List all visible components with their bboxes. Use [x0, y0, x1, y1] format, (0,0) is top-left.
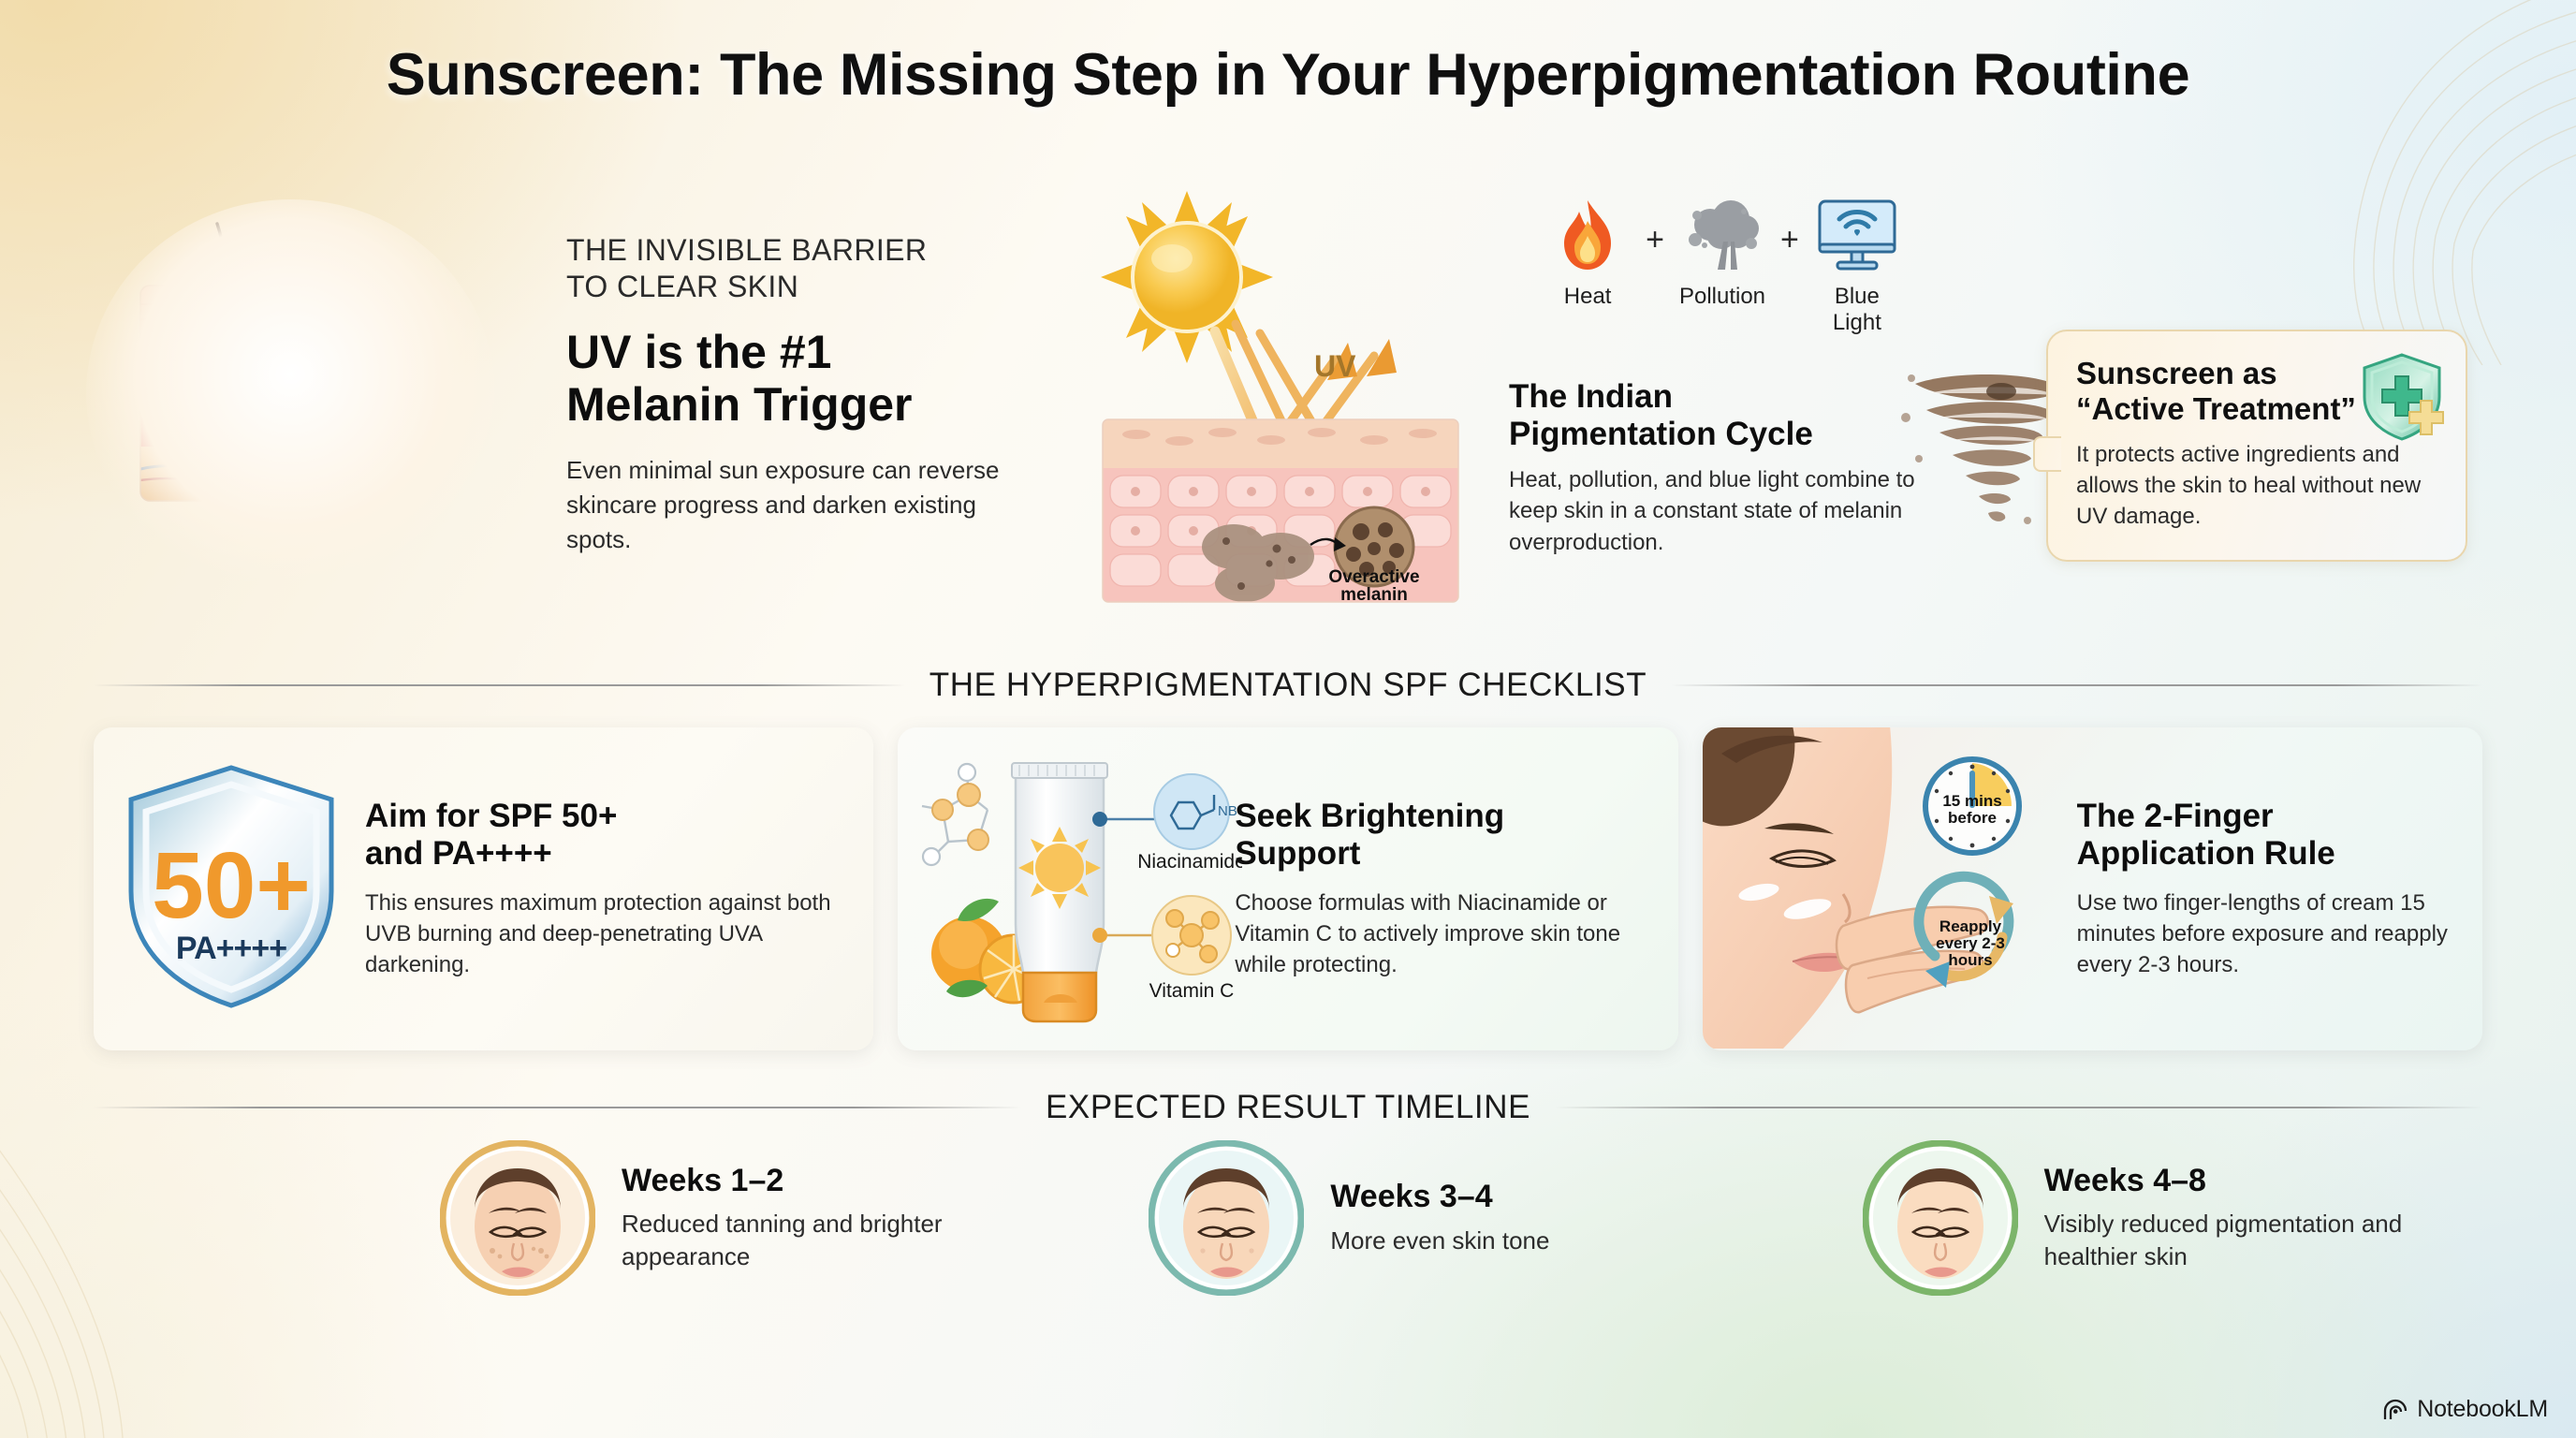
page-title: Sunscreen: The Missing Step in Your Hype…: [0, 41, 2576, 109]
timeline-weeks-3-4-result: More even skin tone: [1330, 1225, 1549, 1256]
face-week-1-2: [440, 1140, 595, 1296]
timeline-divider-line-left: [94, 1107, 1021, 1108]
card-title-spf-line2: and PA++++: [365, 835, 552, 872]
checklist-section-label: THE HYPERPIGMENTATION SPF CHECKLIST: [929, 667, 1647, 704]
spf-shield-badge: 50+ PA++++: [94, 760, 365, 1018]
timeline-item-weeks-1-2[interactable]: Weeks 1–2 Reduced tanning and brighter a…: [94, 1140, 1060, 1296]
divider-line-left: [94, 684, 905, 686]
shield-medical-icon: [2359, 352, 2445, 442]
trigger-item-bluelight: Blue Light: [1810, 192, 1904, 336]
hero-headline-line1: UV is the #1: [566, 326, 1011, 378]
trigger-separator-2: +: [1780, 192, 1799, 258]
melanin-label-line2: melanin: [1340, 585, 1408, 605]
trigger-item-heat: Heat: [1541, 192, 1634, 310]
timeline-divider-line-right: [1555, 1107, 2482, 1108]
timeline-weeks-1-2-label: Weeks 1–2: [622, 1164, 1060, 1198]
melanin-label-line1: Overactive: [1328, 567, 1419, 587]
timeline-row: Weeks 1–2 Reduced tanning and brighter a…: [94, 1140, 2482, 1296]
uv-penetration-diagram: UV: [1093, 174, 1486, 609]
pigmentation-cycle-block: The Indian Pigmentation Cycle Heat, poll…: [1509, 378, 1921, 559]
card-title-application-line2: Application Rule: [2077, 835, 2335, 872]
timeline-weeks-4-8-label: Weeks 4–8: [2044, 1164, 2482, 1198]
hero-body: Even minimal sun exposure can reverse sk…: [566, 453, 1011, 557]
reapply-label-line3: hours: [1948, 951, 1992, 969]
card-title-brightening-line1: Seek Brightening: [1235, 798, 1504, 834]
hero-kicker-line1: THE INVISIBLE BARRIER: [566, 232, 1011, 269]
checklist-card-application[interactable]: 15 mins before Reapply every 2-3 hours: [1703, 727, 2482, 1050]
cycle-heading-line1: The Indian: [1509, 378, 1673, 415]
card-title-spf: Aim for SPF 50+ and PA++++: [365, 798, 842, 873]
card-text-application: The 2-Finger Application Rule Use two fi…: [2077, 798, 2482, 981]
monitor-bluelight-icon: [1810, 192, 1904, 278]
active-treatment-callout: Sunscreen as “Active Treatment” It prote…: [2046, 330, 2467, 562]
card-title-spf-line1: Aim for SPF 50+: [365, 798, 617, 834]
timeline-item-weeks-4-8[interactable]: Weeks 4–8 Visibly reduced pigmentation a…: [1769, 1140, 2482, 1296]
checklist-card-brightening[interactable]: NB Niacinamide Vitamin C: [898, 727, 1677, 1050]
hero-kicker: THE INVISIBLE BARRIER TO CLEAR SKIN: [566, 232, 1011, 305]
callout-body: It protects active ingredients and allow…: [2076, 439, 2437, 532]
card-title-application-line1: The 2-Finger: [2077, 798, 2274, 834]
face-week-4-8: [1863, 1140, 2018, 1296]
section-divider-timeline: EXPECTED RESULT TIMELINE: [94, 1089, 2482, 1126]
reapply-label-line2: every 2-3: [1936, 934, 2005, 952]
trigger-label-bluelight: Blue Light: [1810, 284, 1904, 336]
spf-badge-sub: PA++++: [176, 931, 286, 966]
notebooklm-logo-icon: [2383, 1399, 2408, 1421]
callout-heading: Sunscreen as “Active Treatment”: [2076, 356, 2357, 428]
infographic-background: Sunscreen: The Missing Step in Your Hype…: [0, 0, 2576, 1438]
checklist-card-spf[interactable]: 50+ PA++++ Aim for SPF 50+ and PA++++ Th…: [94, 727, 873, 1050]
hero-headline-line2: Melanin Trigger: [566, 378, 1011, 431]
timeline-text-weeks-3-4: Weeks 3–4 More even skin tone: [1330, 1180, 1549, 1256]
timeline-weeks-1-2-result: Reduced tanning and brighter appearance: [622, 1208, 1060, 1272]
timeline-weeks-3-4-label: Weeks 3–4: [1330, 1180, 1549, 1214]
uv-label: UV: [1314, 349, 1356, 383]
reapply-label-line1: Reapply: [1939, 917, 2002, 935]
card-body-brightening: Choose formulas with Niacinamide or Vita…: [1235, 888, 1646, 980]
card-text-brightening: Seek Brightening Support Choose formulas…: [1235, 798, 1677, 981]
trigger-separator-1: +: [1646, 192, 1664, 258]
section-divider-checklist: THE HYPERPIGMENTATION SPF CHECKLIST: [94, 667, 2482, 704]
cycle-heading-line2: Pigmentation Cycle: [1509, 416, 1813, 452]
callout-heading-line1: Sunscreen as: [2076, 356, 2277, 390]
timeline-item-weeks-3-4[interactable]: Weeks 3–4 More even skin tone: [1060, 1140, 1768, 1296]
trigger-label-heat: Heat: [1541, 284, 1634, 310]
fire-icon: [1541, 192, 1634, 278]
divider-line-right: [1671, 684, 2482, 686]
card-title-brightening: Seek Brightening Support: [1235, 798, 1646, 873]
sun-icon: [1101, 191, 1273, 363]
ingredient-label-niacinamide: Niacinamide: [1138, 851, 1243, 873]
checklist-card-row: 50+ PA++++ Aim for SPF 50+ and PA++++ Th…: [94, 727, 2482, 1050]
smog-cloud-icon: [1676, 192, 1769, 278]
hero-kicker-line2: TO CLEAR SKIN: [566, 269, 1011, 305]
illustration-glow: [86, 199, 495, 588]
card-body-spf: This ensures maximum protection against …: [365, 888, 842, 980]
timer-badge-15min: 15 mins before: [1925, 759, 2019, 853]
card-text-spf: Aim for SPF 50+ and PA++++ This ensures …: [365, 798, 873, 981]
hero-headline: UV is the #1 Melanin Trigger: [566, 326, 1011, 431]
svg-text:NB: NB: [1218, 803, 1237, 819]
trigger-label-pollution: Pollution: [1676, 284, 1769, 310]
card-title-brightening-line2: Support: [1235, 835, 1360, 872]
card-title-application: The 2-Finger Application Rule: [2077, 798, 2451, 873]
pigmentation-trigger-row: Heat +: [1521, 192, 1924, 336]
timeline-weeks-4-8-result: Visibly reduced pigmentation and healthi…: [2044, 1208, 2482, 1272]
timer-label-line1: 15 mins: [1942, 792, 2001, 810]
timeline-section-label: EXPECTED RESULT TIMELINE: [1046, 1089, 1530, 1126]
ingredient-label-vitaminc: Vitamin C: [1149, 980, 1235, 1002]
notebooklm-watermark-label: NotebookLM: [2417, 1396, 2548, 1423]
timer-label-line2: before: [1948, 809, 1997, 827]
card-body-application: Use two finger-lengths of cream 15 minut…: [2077, 888, 2451, 980]
notebooklm-watermark: NotebookLM: [2383, 1396, 2548, 1423]
timeline-text-weeks-1-2: Weeks 1–2 Reduced tanning and brighter a…: [622, 1164, 1060, 1272]
sunscreen-tube-ingredients: NB Niacinamide Vitamin C: [898, 737, 1235, 1041]
face-week-3-4: [1149, 1140, 1304, 1296]
face-application-illustration: 15 mins before Reapply every 2-3 hours: [1703, 727, 2077, 1050]
skin-cross-section-illustration: [86, 199, 495, 588]
cycle-body: Heat, pollution, and blue light combine …: [1509, 464, 1921, 559]
timeline-text-weeks-4-8: Weeks 4–8 Visibly reduced pigmentation a…: [2044, 1164, 2482, 1272]
hero-text-block: THE INVISIBLE BARRIER TO CLEAR SKIN UV i…: [566, 232, 1011, 557]
cycle-heading: The Indian Pigmentation Cycle: [1509, 378, 1921, 453]
spf-badge-value: 50+: [152, 833, 311, 938]
callout-heading-line2: “Active Treatment”: [2076, 391, 2356, 426]
trigger-item-pollution: Pollution: [1676, 192, 1769, 310]
